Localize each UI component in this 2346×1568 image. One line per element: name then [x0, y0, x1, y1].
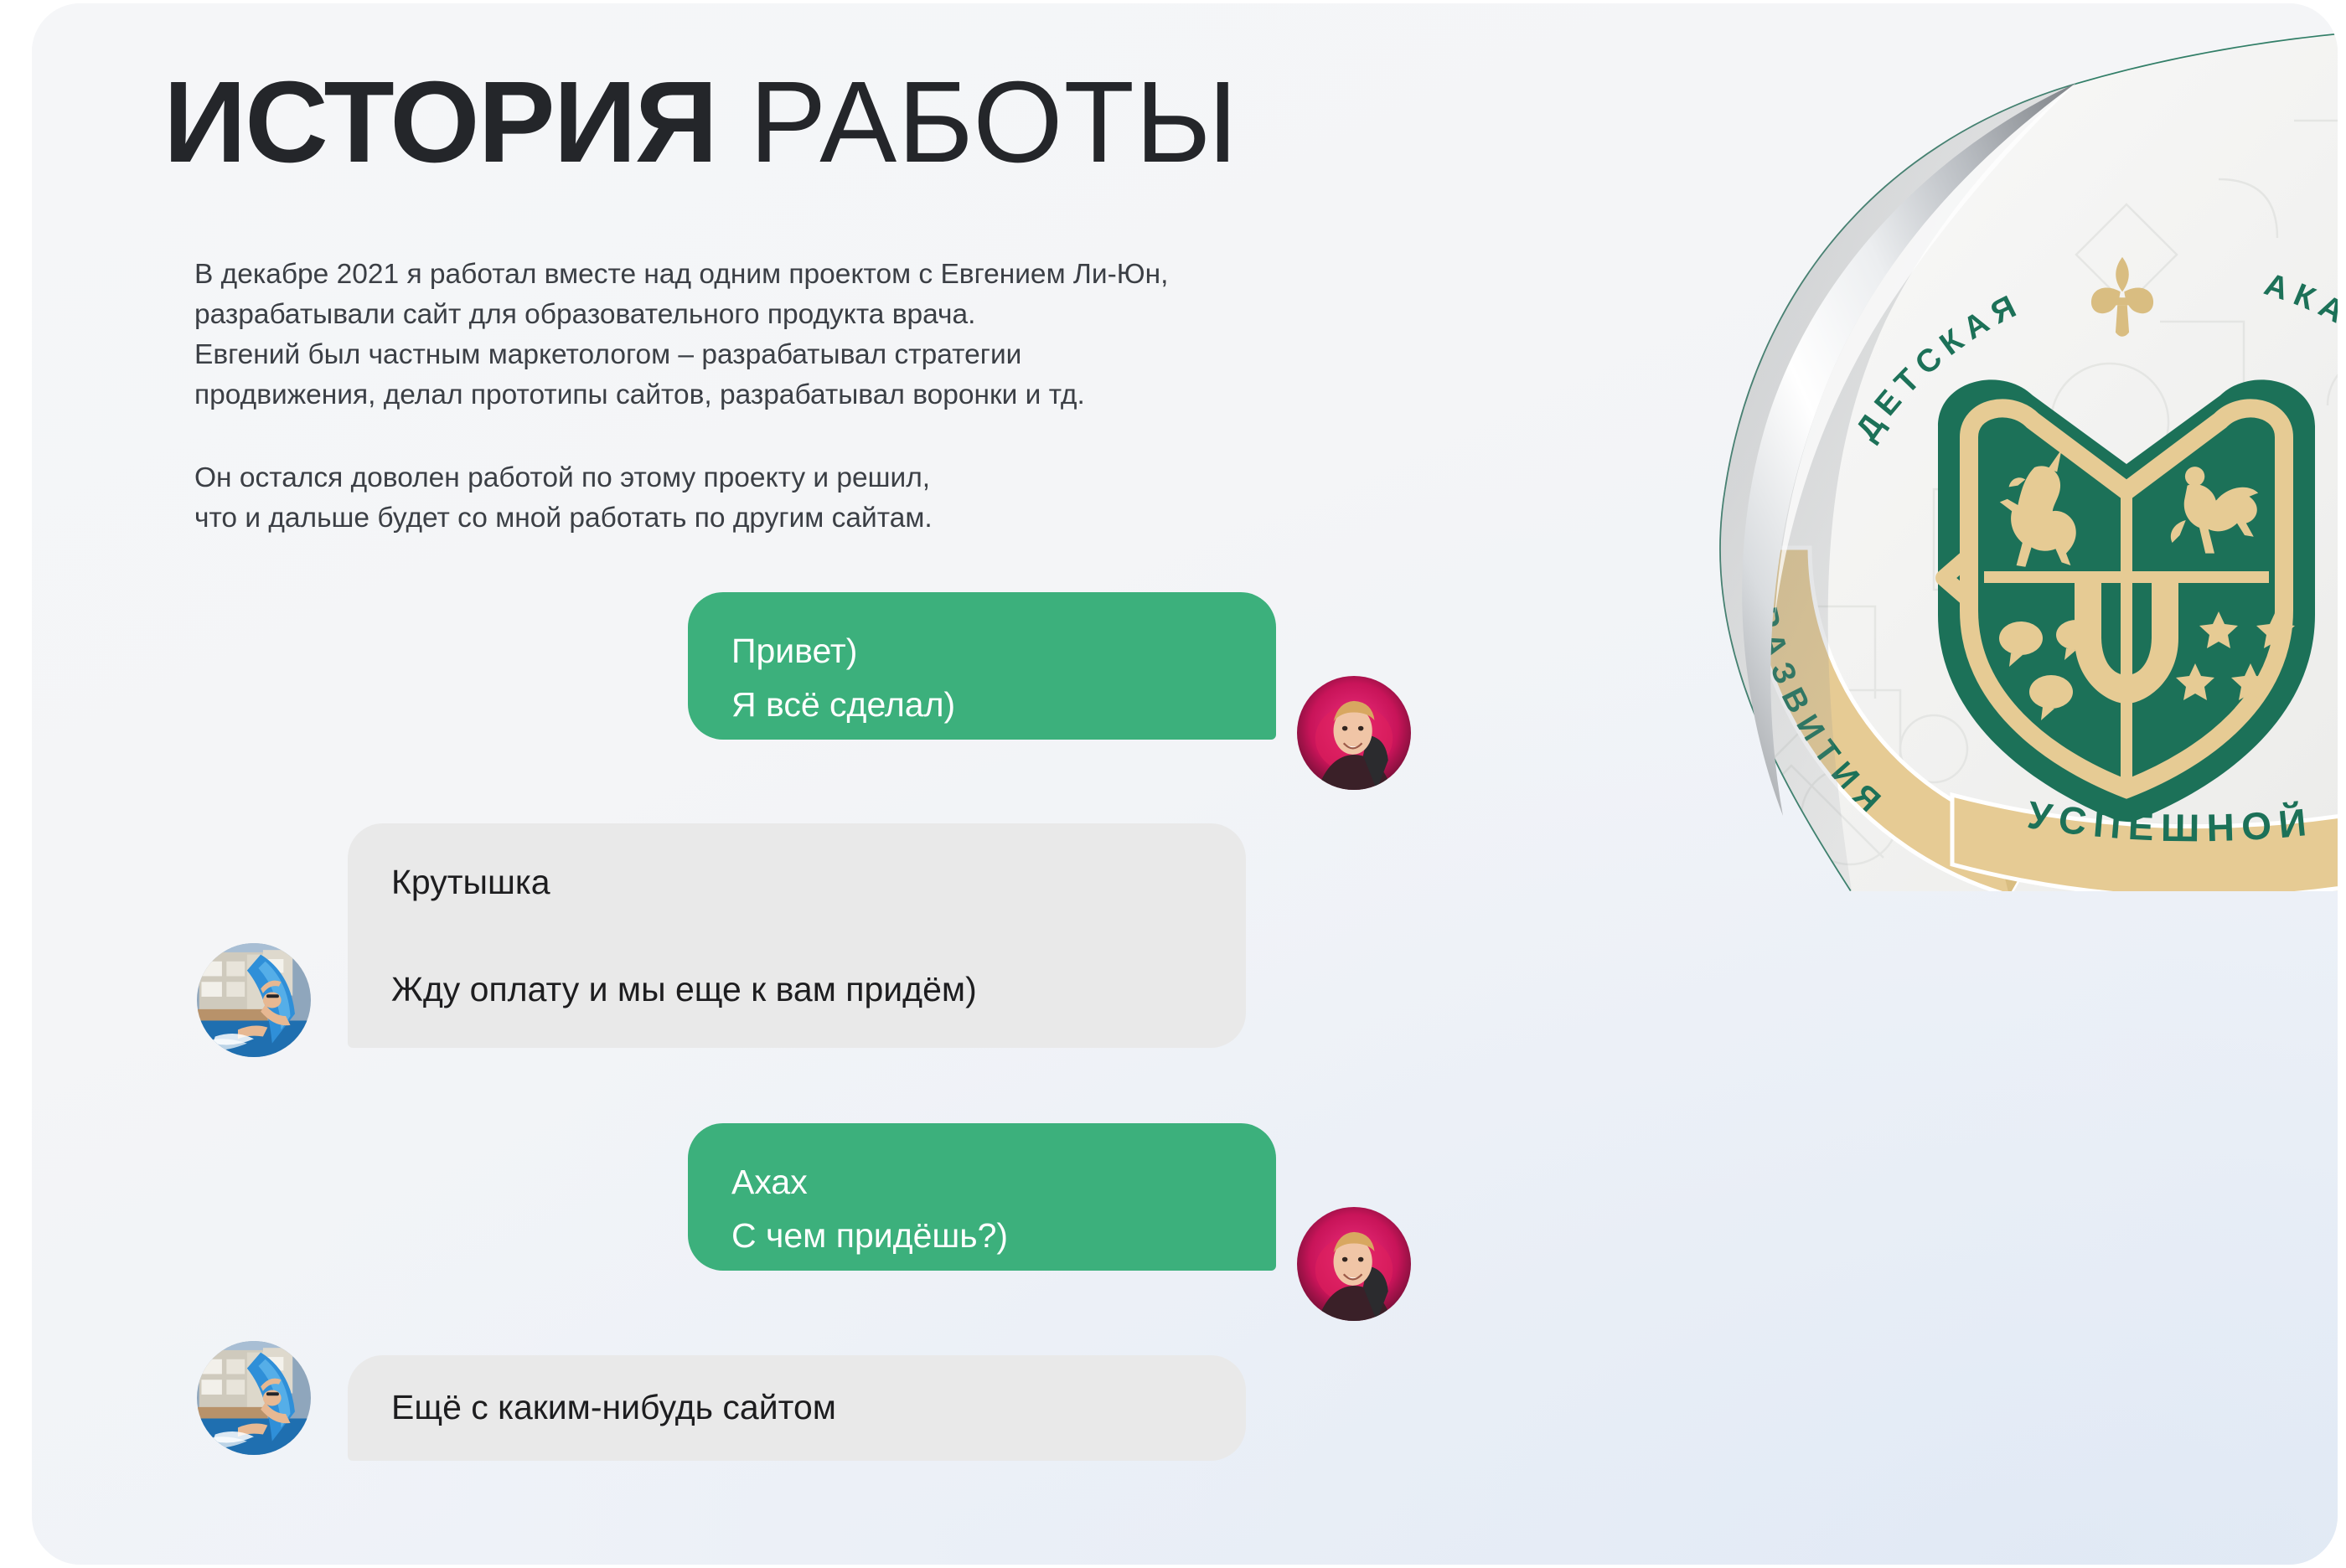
avatar-blond-man	[1297, 1207, 1411, 1321]
avatar-waterslide	[197, 1341, 311, 1455]
chat-bubble-incoming: Крутышка Жду оплату и мы еще к вам придё…	[348, 823, 1246, 1048]
slide-card: ДЕТСКАЯ АКАДЕМИЯ	[32, 3, 2338, 1565]
chat-bubble-outgoing: Привет) Я всё сделал)	[688, 592, 1276, 740]
avatar-blond-man	[1297, 676, 1411, 790]
chat-bubble-outgoing: Ахах С чем придёшь?)	[688, 1123, 1276, 1271]
avatar-waterslide	[197, 943, 311, 1057]
chat-bubble-incoming: Ещё с каким-нибудь сайтом	[348, 1355, 1246, 1461]
chat-transcript: Привет) Я всё сделал)	[32, 3, 2338, 1565]
